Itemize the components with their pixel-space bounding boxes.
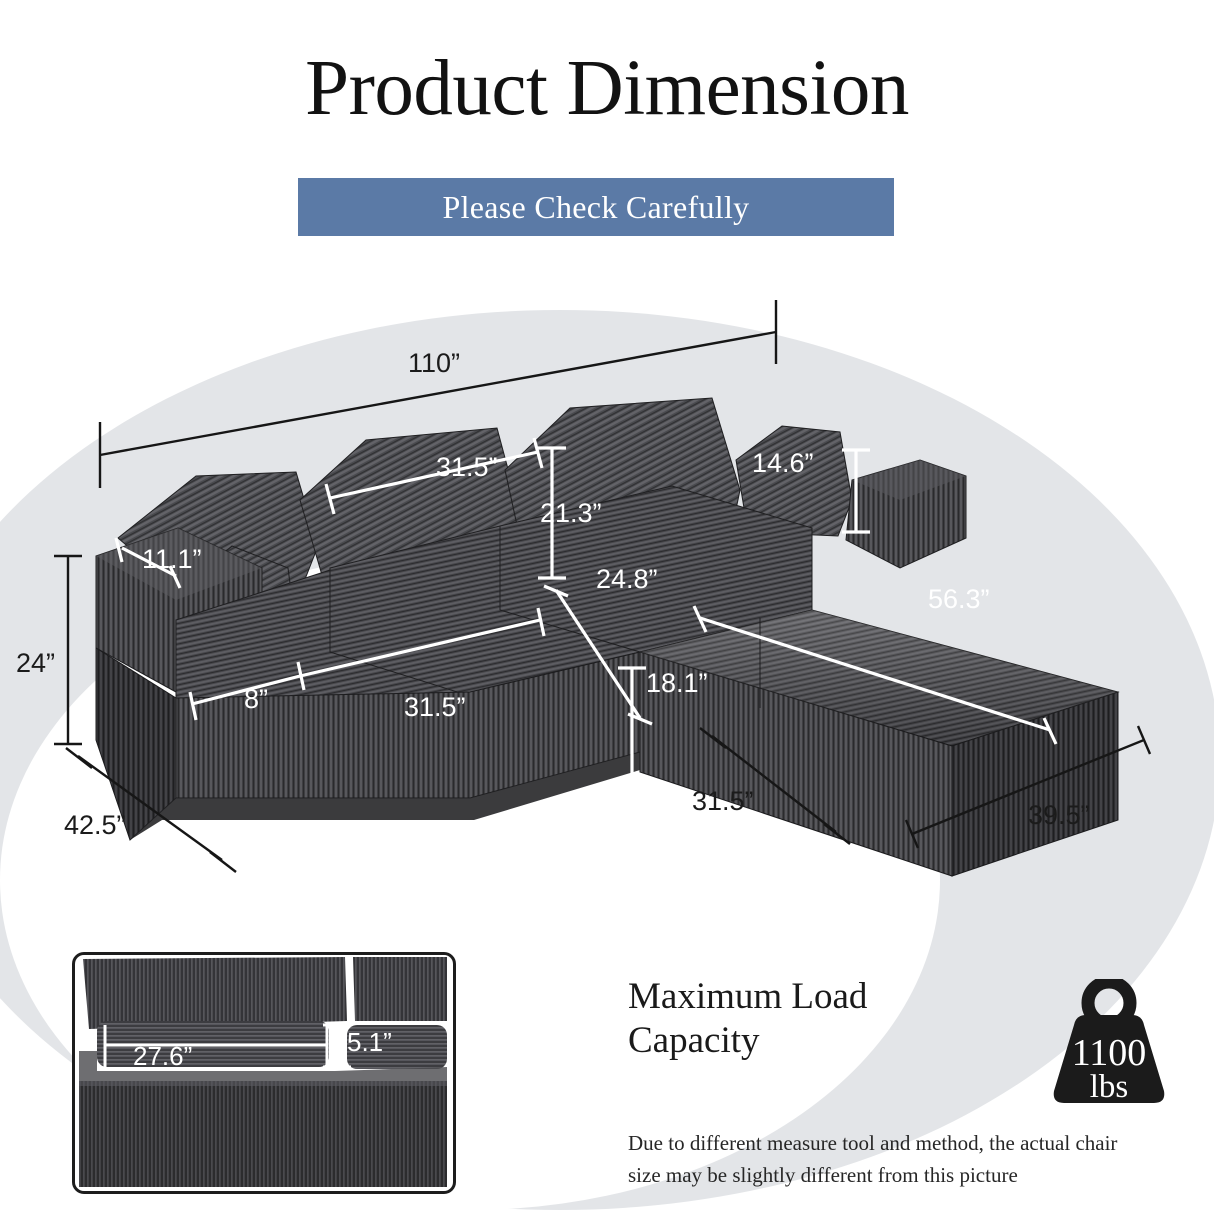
label-throw-pillow: 14.6” [752, 448, 814, 478]
label-armrest-width: 11.1” [142, 544, 202, 574]
label-backrest-width: 31.5” [436, 452, 498, 482]
sofa-illustration [96, 398, 1118, 876]
inset-label-width: 27.6” [133, 1041, 192, 1071]
label-overall-depth: 42.5” [64, 810, 126, 840]
inset-label-thickness: 5.1” [347, 1027, 392, 1057]
label-overall-height: 24” [16, 648, 55, 678]
inset-base [79, 1081, 447, 1187]
load-capacity-section: Maximum Load Capacity 1100 lbs Due to di… [628, 975, 1168, 1191]
weight-value: 1100 [1072, 1032, 1147, 1074]
infographic-canvas: Product Dimension Please Check Carefully [0, 0, 1214, 1214]
sofa-diagram: 110” 31.5” 21.3” 11.1” 14.6” 24.8” 56.3”… [0, 300, 1214, 900]
weight-icon: 1100 lbs [1050, 979, 1168, 1104]
inset-backrest-left [83, 957, 347, 1029]
label-backrest-height: 21.3” [540, 498, 602, 528]
label-chaise-depth: 31.5” [692, 786, 754, 816]
label-seat-cushion-width: 31.5” [404, 692, 466, 722]
label-armrest-height: 8” [244, 684, 268, 714]
label-seat-depth: 24.8” [596, 564, 658, 594]
load-title-line1: Maximum Load [628, 975, 867, 1019]
label-chaise-width: 39.5” [1028, 800, 1090, 830]
load-capacity-title: Maximum Load Capacity [628, 975, 867, 1062]
inset-backrest-right [353, 957, 447, 1021]
page-title: Product Dimension [0, 48, 1214, 131]
label-chaise-length: 56.3” [928, 584, 990, 614]
label-overall-width: 110” [408, 348, 460, 378]
banner-label: Please Check Carefully [443, 189, 750, 226]
load-title-line2: Capacity [628, 1019, 867, 1063]
label-seat-height: 18.1” [646, 668, 708, 698]
cushion-detail-inset: 27.6” 5.1” [72, 952, 456, 1194]
subtitle-banner: Please Check Carefully [298, 178, 894, 236]
weight-unit: lbs [1090, 1069, 1129, 1104]
disclaimer-text: Due to different measure tool and method… [628, 1128, 1148, 1191]
